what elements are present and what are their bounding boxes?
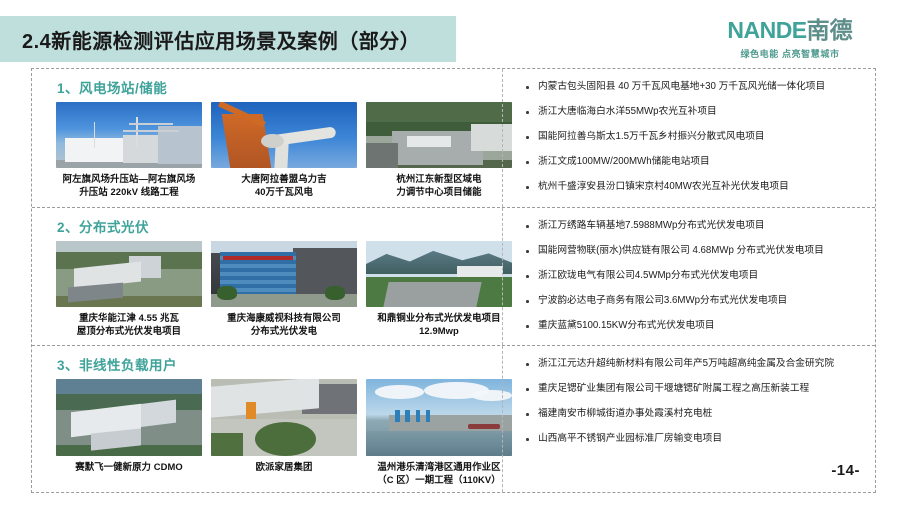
list-item: 浙江万绣路车辆基地7.5988MWp分布式光伏发电项目 [523, 220, 869, 233]
wind-turbine-photo [211, 102, 357, 168]
section-3-cards: 赛默飞一健新原力 CDMO 欧派家居集团 [45, 379, 502, 487]
port-photo [366, 379, 512, 456]
list-item: 杭州千盛淳安县汾口镇宋京村40MW农光互补光伏发电项目 [523, 181, 869, 194]
substation-photo [56, 102, 202, 168]
list-item: 重庆蓝黛5100.15KW分布式光伏发电项目 [523, 320, 869, 333]
page-number: -14- [831, 462, 860, 479]
card-caption: 重庆华能江津 4.55 兆瓦屋顶分布式光伏发电项目 [56, 312, 202, 338]
section-2-heading: 2、分布式光伏 [45, 208, 502, 236]
section-2-gallery: 2、分布式光伏 重庆华能江津 4.55 兆瓦屋顶分布式光伏发电项目 [32, 208, 502, 345]
bullet-list: 内蒙古包头固阳县 40 万千瓦风电基地+30 万千瓦风光储一体化项目 浙江大唐临… [523, 81, 869, 194]
section-2-bullets: 浙江万绣路车辆基地7.5988MWp分布式光伏发电项目 国能网营物联(丽水)供应… [502, 208, 875, 345]
aerial-plant-photo [56, 379, 202, 456]
brand-latin: NANDE [727, 17, 806, 43]
card[interactable]: 杭州江东新型区域电力调节中心项目储能 [366, 102, 512, 199]
list-item: 重庆足锶矿业集团有限公司干堰塘锶矿附属工程之高压新装工程 [523, 383, 869, 396]
card-caption: 重庆海康威视科技有限公司分布式光伏发电 [211, 312, 357, 338]
card[interactable]: 大唐阿拉善盟乌力吉40万千瓦风电 [211, 102, 357, 199]
section-2-cards: 重庆华能江津 4.55 兆瓦屋顶分布式光伏发电项目 重庆海康威视科技有限公司分布… [45, 241, 502, 338]
aerial-industrial-photo [56, 241, 202, 307]
list-item: 福建南安市柳城街道办事处霞溪村充电桩 [523, 408, 869, 421]
brand-logo: NANDE南德 绿色电能 点亮智慧城市 [700, 18, 880, 60]
section-3-bullets: 浙江江元达升超纯新材料有限公司年产5万吨超高纯金属及合金研究院 重庆足锶矿业集团… [502, 346, 875, 492]
slide-header: 2.4新能源检测评估应用场景及案例（部分） NANDE南德 绿色电能 点亮智慧城… [0, 16, 906, 62]
card-caption: 大唐阿拉善盟乌力吉40万千瓦风电 [211, 173, 357, 199]
list-item: 宁波韵必达电子商务有限公司3.6MWp分布式光伏发电项目 [523, 295, 869, 308]
content-frame: 1、风电场站/储能 阿左旗风场升压站—阿右旗风场升压站 220kV 线路工程 [31, 68, 876, 493]
list-item: 内蒙古包头固阳县 40 万千瓦风电基地+30 万千瓦风光储一体化项目 [523, 81, 869, 94]
list-item: 浙江欧珑电气有限公司4.5WMp分布式光伏发电项目 [523, 270, 869, 283]
page-title: 2.4新能源检测评估应用场景及案例（部分） [22, 25, 420, 54]
card[interactable]: 重庆海康威视科技有限公司分布式光伏发电 [211, 241, 357, 338]
card[interactable]: 阿左旗风场升压站—阿右旗风场升压站 220kV 线路工程 [56, 102, 202, 199]
list-item: 浙江江元达升超纯新材料有限公司年产5万吨超高纯金属及合金研究院 [523, 358, 869, 371]
list-item: 浙江文成100MW/200MWh储能电站项目 [523, 156, 869, 169]
card-caption: 和鼎铜业分布式光伏发电项目12.9Mwp [366, 312, 512, 338]
section-3-gallery: 3、非线性负载用户 赛默飞一健新原力 CDMO [32, 346, 502, 492]
section-nonlinear-load: 3、非线性负载用户 赛默飞一健新原力 CDMO [32, 345, 875, 492]
brand-cn: 南德 [807, 17, 853, 43]
slide-root: 2.4新能源检测评估应用场景及案例（部分） NANDE南德 绿色电能 点亮智慧城… [0, 0, 906, 513]
section-1-heading: 1、风电场站/储能 [45, 69, 502, 97]
card-caption: 赛默飞一健新原力 CDMO [56, 461, 202, 474]
brand-tagline: 绿色电能 点亮智慧城市 [700, 47, 880, 60]
factory-plaza-photo [211, 379, 357, 456]
card-caption: 温州港乐清湾港区通用作业区（C 区）一期工程（110KV） [366, 461, 512, 487]
list-item: 山西高平不锈钢产业园标准厂房输变电项目 [523, 433, 869, 446]
card[interactable]: 重庆华能江津 4.55 兆瓦屋顶分布式光伏发电项目 [56, 241, 202, 338]
section-1-gallery: 1、风电场站/储能 阿左旗风场升压站—阿右旗风场升压站 220kV 线路工程 [32, 69, 502, 207]
card-caption: 欧派家居集团 [211, 461, 357, 474]
section-1-cards: 阿左旗风场升压站—阿右旗风场升压站 220kV 线路工程 大唐阿拉善盟乌力吉40… [45, 102, 502, 199]
card[interactable]: 欧派家居集团 [211, 379, 357, 487]
list-item: 国能阿拉善乌斯太1.5万千瓦乡村振兴分散式风电项目 [523, 131, 869, 144]
bullet-list: 浙江万绣路车辆基地7.5988MWp分布式光伏发电项目 国能网营物联(丽水)供应… [523, 220, 869, 333]
section-1-bullets: 内蒙古包头固阳县 40 万千瓦风电基地+30 万千瓦风光储一体化项目 浙江大唐临… [502, 69, 875, 207]
card-caption: 阿左旗风场升压站—阿右旗风场升压站 220kV 线路工程 [56, 173, 202, 199]
card-caption: 杭州江东新型区域电力调节中心项目储能 [366, 173, 512, 199]
brand-name: NANDE南德 [700, 18, 880, 42]
section-distributed-pv: 2、分布式光伏 重庆华能江津 4.55 兆瓦屋顶分布式光伏发电项目 [32, 207, 875, 345]
card[interactable]: 和鼎铜业分布式光伏发电项目12.9Mwp [366, 241, 512, 338]
card[interactable]: 赛默飞一健新原力 CDMO [56, 379, 202, 487]
office-building-photo [211, 241, 357, 307]
title-band: 2.4新能源检测评估应用场景及案例（部分） [0, 16, 456, 62]
aerial-substation-photo [366, 102, 512, 168]
section-3-heading: 3、非线性负载用户 [45, 346, 502, 374]
section-wind-storage: 1、风电场站/储能 阿左旗风场升压站—阿右旗风场升压站 220kV 线路工程 [32, 69, 875, 207]
mountain-campus-photo [366, 241, 512, 307]
bullet-list: 浙江江元达升超纯新材料有限公司年产5万吨超高纯金属及合金研究院 重庆足锶矿业集团… [523, 358, 869, 446]
list-item: 国能网营物联(丽水)供应链有限公司 4.68MWp 分布式光伏发电项目 [523, 245, 869, 258]
list-item: 浙江大唐临海白水洋55MWp农光互补项目 [523, 106, 869, 119]
card[interactable]: 温州港乐清湾港区通用作业区（C 区）一期工程（110KV） [366, 379, 512, 487]
